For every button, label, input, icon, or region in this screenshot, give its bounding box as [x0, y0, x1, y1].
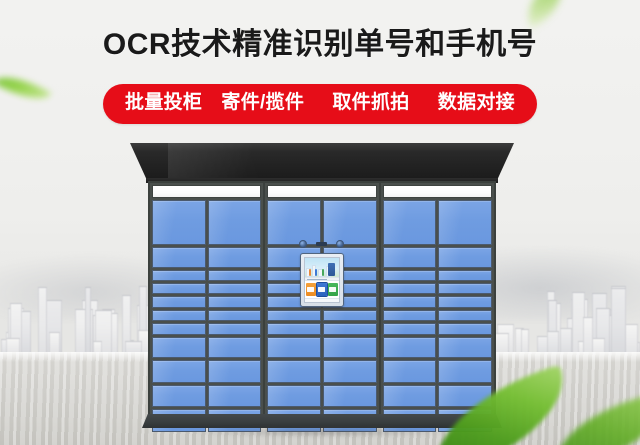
locker-door[interactable] [152, 200, 206, 245]
locker-door-row [267, 385, 376, 408]
locker-door-grid [152, 200, 261, 412]
screen-footer-bar [305, 298, 339, 302]
locker-door[interactable] [323, 310, 377, 321]
locker-door[interactable] [383, 385, 437, 408]
locker-door[interactable] [208, 296, 262, 307]
locker-door[interactable] [323, 323, 377, 335]
locker-bay-3 [381, 183, 494, 414]
locker-door[interactable] [208, 270, 262, 281]
feature-batch-deposit: 批量投柜 [125, 90, 202, 116]
locker-door-row [267, 310, 376, 321]
locker-door[interactable] [208, 200, 262, 245]
send-parcel-tile[interactable] [317, 283, 327, 296]
parcel-locker-cabinet [148, 143, 496, 426]
locker-door-row [383, 200, 492, 245]
locker-door-row [383, 283, 492, 294]
locker-door[interactable] [323, 385, 377, 408]
locker-door-row [267, 360, 376, 383]
locker-door-row [267, 323, 376, 335]
locker-door[interactable] [267, 323, 321, 335]
locker-door[interactable] [208, 337, 262, 358]
feature-pill-container: 批量投柜 寄件/揽件 取件抓拍 数据对接 [0, 84, 640, 124]
locker-bay-2 [265, 183, 380, 414]
locker-ground-shadow [122, 425, 522, 439]
hero-kiosk-icon [328, 263, 335, 276]
locker-door[interactable] [383, 200, 437, 245]
locker-door-row [152, 296, 261, 307]
locker-door[interactable] [208, 283, 262, 294]
locker-door[interactable] [152, 385, 206, 408]
locker-door-row [267, 337, 376, 358]
skyline-building [611, 288, 626, 358]
skyline-building [85, 287, 91, 358]
locker-door[interactable] [438, 200, 492, 245]
city-skyline-left [0, 272, 160, 358]
screen-status-bar [305, 277, 339, 281]
console-touchscreen[interactable] [300, 253, 344, 307]
locker-door[interactable] [438, 247, 492, 268]
locker-door[interactable] [152, 360, 206, 383]
pickup-parcel-tile[interactable] [328, 283, 338, 296]
screen-hero-illustration [305, 258, 339, 277]
locker-door[interactable] [152, 323, 206, 335]
locker-door-row [152, 283, 261, 294]
feature-pill: 批量投柜 寄件/揽件 取件抓拍 数据对接 [103, 84, 537, 124]
locker-door[interactable] [438, 310, 492, 321]
feature-data-integration: 数据对接 [438, 90, 515, 116]
locker-door[interactable] [438, 270, 492, 281]
locker-bay-1 [150, 183, 265, 414]
locker-door-row [383, 337, 492, 358]
locker-door-row [383, 270, 492, 281]
locker-door-row [383, 247, 492, 268]
locker-door-row [152, 200, 261, 245]
locker-door[interactable] [152, 310, 206, 321]
locker-door[interactable] [208, 385, 262, 408]
locker-door-row [383, 310, 492, 321]
promotional-banner-image: OCR技术精准识别单号和手机号 批量投柜 寄件/揽件 取件抓拍 数据对接 [0, 0, 640, 445]
locker-door-row [383, 323, 492, 335]
hero-person-icon [315, 269, 317, 276]
locker-door-row [152, 323, 261, 335]
locker-door[interactable] [323, 337, 377, 358]
locker-door-row [383, 360, 492, 383]
scanner-slot-icon [316, 242, 327, 246]
locker-door[interactable] [208, 310, 262, 321]
locker-door[interactable] [267, 337, 321, 358]
locker-door[interactable] [152, 283, 206, 294]
locker-door[interactable] [438, 337, 492, 358]
parcel-box-icon [318, 287, 325, 292]
locker-door[interactable] [383, 270, 437, 281]
locker-door[interactable] [438, 385, 492, 408]
locker-body [148, 181, 496, 416]
locker-door-row [152, 247, 261, 268]
locker-door-row [152, 360, 261, 383]
feature-pickup-capture: 取件抓拍 [332, 90, 409, 116]
page-title: OCR技术精准识别单号和手机号 [0, 26, 640, 64]
locker-door[interactable] [152, 337, 206, 358]
locker-door-row [383, 385, 492, 408]
locker-door[interactable] [323, 360, 377, 383]
locker-bay-header-band [383, 185, 492, 198]
locker-door[interactable] [383, 247, 437, 268]
locker-door[interactable] [438, 283, 492, 294]
feature-pill-text: 批量投柜 寄件/揽件 取件抓拍 数据对接 [125, 90, 515, 116]
locker-door-row [152, 337, 261, 358]
locker-door[interactable] [383, 283, 437, 294]
locker-bay-header-band [267, 185, 376, 198]
locker-door[interactable] [383, 360, 437, 383]
locker-door-row [152, 310, 261, 321]
hero-person-icon [309, 269, 311, 276]
locker-door[interactable] [383, 337, 437, 358]
parcel-box-icon [307, 287, 314, 292]
locker-door[interactable] [152, 270, 206, 281]
locker-door-row [152, 385, 261, 408]
locker-door[interactable] [208, 323, 262, 335]
locker-door[interactable] [438, 360, 492, 383]
touchscreen-display[interactable] [304, 257, 340, 303]
console-sensor-strip [294, 238, 350, 250]
locker-canopy-roof [130, 143, 514, 181]
city-skyline-right [490, 272, 640, 358]
locker-door[interactable] [383, 323, 437, 335]
locker-door[interactable] [208, 360, 262, 383]
locker-door[interactable] [383, 296, 437, 307]
locker-door[interactable] [267, 385, 321, 408]
locker-door-grid [383, 200, 492, 412]
skyline-building [38, 287, 47, 358]
camera-lens-icon [336, 240, 344, 248]
locker-door[interactable] [152, 296, 206, 307]
locker-door[interactable] [208, 247, 262, 268]
parcel-box-icon [329, 287, 336, 292]
locker-door[interactable] [438, 296, 492, 307]
locker-door-row [152, 270, 261, 281]
locker-door-row [383, 296, 492, 307]
deposit-parcel-tile[interactable] [306, 283, 316, 296]
locker-door[interactable] [438, 323, 492, 335]
feature-send-collect: 寄件/揽件 [221, 90, 304, 116]
camera-lens-icon [299, 240, 307, 248]
hero-person-icon [322, 269, 324, 276]
locker-door[interactable] [152, 247, 206, 268]
locker-bay-header-band [152, 185, 261, 198]
screen-action-tiles [305, 281, 339, 298]
locker-door[interactable] [383, 310, 437, 321]
locker-door[interactable] [267, 360, 321, 383]
locker-door[interactable] [267, 310, 321, 321]
